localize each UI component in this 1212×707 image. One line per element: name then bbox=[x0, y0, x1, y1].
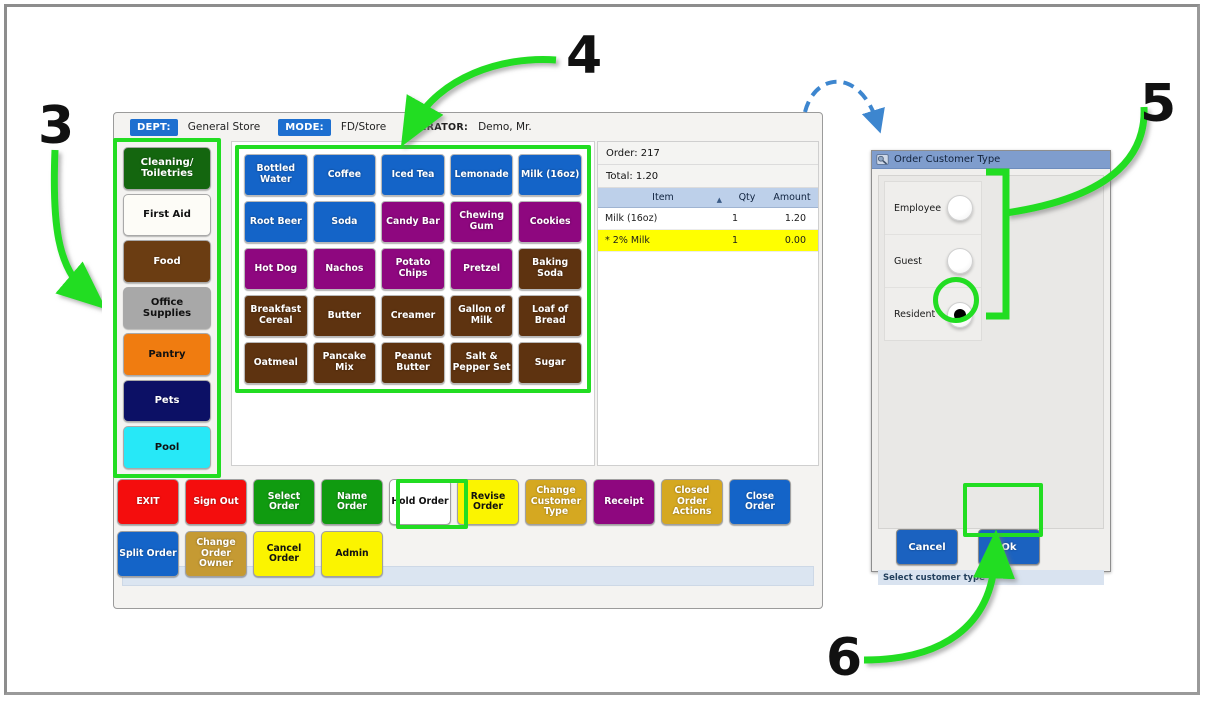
pos-header-bar: DEPT: General Store MODE: FD/Store OPERA… bbox=[114, 113, 822, 141]
order-row-item: Milk (16oz) bbox=[598, 213, 716, 224]
item-button-butter[interactable]: Butter bbox=[313, 295, 377, 337]
order-row[interactable]: * 2% Milk10.00 bbox=[598, 230, 818, 252]
action-button-select-order[interactable]: Select Order bbox=[253, 479, 315, 525]
department-sidebar: Cleaning/ ToiletriesFirst AidFoodOffice … bbox=[117, 142, 217, 474]
radio-option-guest[interactable]: Guest bbox=[885, 235, 981, 288]
callout-number-3: 3 bbox=[38, 100, 74, 152]
item-button-chewing-gum[interactable]: Chewing Gum bbox=[450, 201, 514, 243]
department-button-first-aid[interactable]: First Aid bbox=[123, 194, 211, 237]
order-row-qty: 1 bbox=[716, 235, 754, 246]
department-button-office-supplies[interactable]: Office Supplies bbox=[123, 287, 211, 330]
department-button-pool[interactable]: Pool bbox=[123, 426, 211, 469]
dialog-title-label: Order Customer Type bbox=[894, 154, 1000, 165]
action-button-close-order[interactable]: Close Order bbox=[729, 479, 791, 525]
action-button-revise-order[interactable]: Revise Order bbox=[457, 479, 519, 525]
action-button-exit[interactable]: EXIT bbox=[117, 479, 179, 525]
item-button-candy-bar[interactable]: Candy Bar bbox=[381, 201, 445, 243]
department-button-food[interactable]: Food bbox=[123, 240, 211, 283]
item-button-potato-chips[interactable]: Potato Chips bbox=[381, 248, 445, 290]
callout-number-6: 6 bbox=[826, 632, 862, 684]
order-rows: Milk (16oz)11.20* 2% Milk10.00 bbox=[598, 208, 818, 252]
order-panel: Order: 217 Total: 1.20 Item ▲ Qty Amount… bbox=[597, 141, 819, 466]
radio-option-label: Guest bbox=[894, 256, 922, 267]
radio-option-label: Resident bbox=[894, 309, 935, 320]
action-button-cancel-order[interactable]: Cancel Order bbox=[253, 531, 315, 577]
dialog-status-bar: Select customer type bbox=[878, 570, 1104, 585]
screenshot-frame: DEPT: General Store MODE: FD/Store OPERA… bbox=[4, 4, 1200, 695]
action-button-receipt[interactable]: Receipt bbox=[593, 479, 655, 525]
item-button-soda[interactable]: Soda bbox=[313, 201, 377, 243]
callout-number-4: 4 bbox=[566, 30, 602, 82]
radio-knob-selected[interactable] bbox=[947, 302, 973, 328]
item-button-bottled-water[interactable]: Bottled Water bbox=[244, 154, 308, 196]
radio-option-label: Employee bbox=[894, 203, 941, 214]
action-button-split-order[interactable]: Split Order bbox=[117, 531, 179, 577]
action-button-change-order-owner[interactable]: Change Order Owner bbox=[185, 531, 247, 577]
order-customer-type-dialog: Order Customer Type EmployeeGuestResiden… bbox=[871, 150, 1111, 572]
order-row-amount: 0.00 bbox=[754, 235, 818, 246]
radio-knob[interactable] bbox=[947, 248, 973, 274]
item-button-peanut-butter[interactable]: Peanut Butter bbox=[381, 342, 445, 384]
item-button-salt-pepper-set[interactable]: Salt & Pepper Set bbox=[450, 342, 514, 384]
order-row-qty: 1 bbox=[716, 213, 754, 224]
item-button-oatmeal[interactable]: Oatmeal bbox=[244, 342, 308, 384]
dialog-body: EmployeeGuestResident bbox=[878, 175, 1104, 529]
order-total: Total: 1.20 bbox=[598, 165, 818, 188]
operator-value: Demo, Mr. bbox=[474, 121, 544, 133]
radio-knob[interactable] bbox=[947, 195, 973, 221]
item-button-pretzel[interactable]: Pretzel bbox=[450, 248, 514, 290]
cancel-button[interactable]: Cancel bbox=[896, 529, 958, 565]
item-button-coffee[interactable]: Coffee bbox=[313, 154, 377, 196]
action-button-hold-order[interactable]: Hold Order bbox=[389, 479, 451, 525]
item-button-grid: Bottled WaterCoffeeIced TeaLemonadeMilk … bbox=[239, 149, 587, 389]
mode-value: FD/Store bbox=[337, 121, 398, 133]
item-button-sugar[interactable]: Sugar bbox=[518, 342, 582, 384]
radio-option-resident[interactable]: Resident bbox=[885, 288, 981, 341]
dept-chip: DEPT: bbox=[130, 119, 178, 136]
column-header-amount[interactable]: Amount bbox=[766, 192, 818, 203]
item-button-cookies[interactable]: Cookies bbox=[518, 201, 582, 243]
order-row-item: * 2% Milk bbox=[598, 235, 716, 246]
action-button-closed-order-actions[interactable]: Closed Order Actions bbox=[661, 479, 723, 525]
ok-button[interactable]: Ok bbox=[978, 529, 1040, 565]
radio-option-employee[interactable]: Employee bbox=[885, 182, 981, 235]
item-button-root-beer[interactable]: Root Beer bbox=[244, 201, 308, 243]
column-header-item[interactable]: Item ▲ bbox=[598, 192, 728, 203]
action-button-sign-out[interactable]: Sign Out bbox=[185, 479, 247, 525]
action-button-change-customer-type[interactable]: Change Customer Type bbox=[525, 479, 587, 525]
dept-value: General Store bbox=[184, 121, 272, 133]
item-button-nachos[interactable]: Nachos bbox=[313, 248, 377, 290]
sort-ascending-icon: ▲ bbox=[717, 196, 722, 204]
department-button-pantry[interactable]: Pantry bbox=[123, 333, 211, 376]
order-row[interactable]: Milk (16oz)11.20 bbox=[598, 208, 818, 230]
order-row-amount: 1.20 bbox=[754, 213, 818, 224]
operator-label: OPERATOR: bbox=[404, 122, 468, 133]
department-button-pets[interactable]: Pets bbox=[123, 380, 211, 423]
item-button-creamer[interactable]: Creamer bbox=[381, 295, 445, 337]
order-table-header: Item ▲ Qty Amount bbox=[598, 188, 818, 208]
action-button-admin[interactable]: Admin bbox=[321, 531, 383, 577]
column-header-item-label: Item bbox=[652, 192, 674, 203]
item-button-baking-soda[interactable]: Baking Soda bbox=[518, 248, 582, 290]
radio-selected-dot bbox=[954, 309, 966, 321]
item-button-pancake-mix[interactable]: Pancake Mix bbox=[313, 342, 377, 384]
item-button-iced-tea[interactable]: Iced Tea bbox=[381, 154, 445, 196]
dialog-footer: Cancel Ok Select customer type bbox=[878, 529, 1104, 565]
item-button-gallon-of-milk[interactable]: Gallon of Milk bbox=[450, 295, 514, 337]
item-button-lemonade[interactable]: Lemonade bbox=[450, 154, 514, 196]
mode-chip: MODE: bbox=[278, 119, 331, 136]
customer-type-radio-group: EmployeeGuestResident bbox=[884, 181, 982, 341]
action-button-bar: EXITSign OutSelect OrderName OrderHold O… bbox=[117, 479, 817, 577]
app-window-icon bbox=[876, 153, 889, 166]
item-button-milk-16oz[interactable]: Milk (16oz) bbox=[518, 154, 582, 196]
item-button-hot-dog[interactable]: Hot Dog bbox=[244, 248, 308, 290]
department-button-cleaning-toiletries[interactable]: Cleaning/ Toiletries bbox=[123, 147, 211, 190]
order-number: Order: 217 bbox=[598, 142, 818, 165]
item-button-breakfast-cereal[interactable]: Breakfast Cereal bbox=[244, 295, 308, 337]
action-button-name-order[interactable]: Name Order bbox=[321, 479, 383, 525]
callout-number-5: 5 bbox=[1140, 78, 1176, 130]
dialog-title-bar: Order Customer Type bbox=[872, 151, 1110, 169]
column-header-qty[interactable]: Qty bbox=[728, 192, 766, 203]
item-button-loaf-of-bread[interactable]: Loaf of Bread bbox=[518, 295, 582, 337]
